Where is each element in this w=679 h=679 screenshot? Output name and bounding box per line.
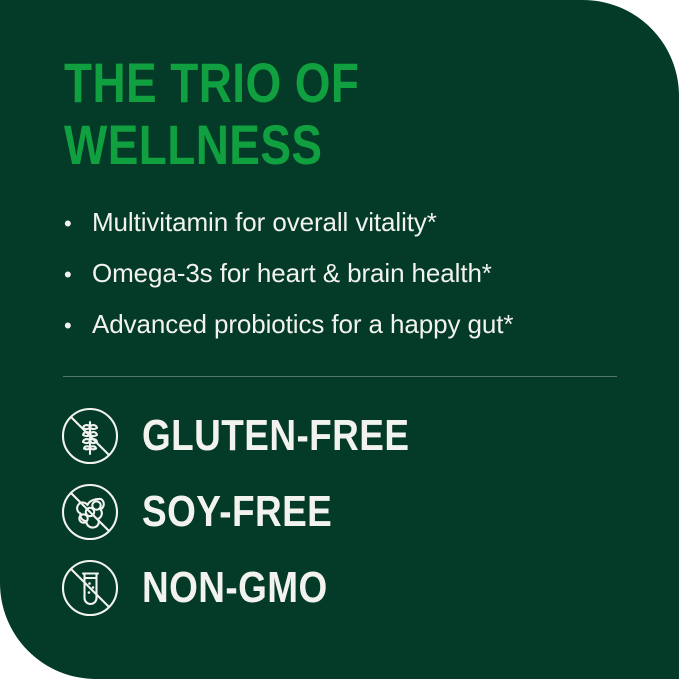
certification-badges: GLUTEN-FREE SOY-FREE [56,398,636,626]
badge-label: SOY-FREE [142,488,557,536]
no-test-tube-icon [56,554,124,622]
bullet-dot-icon: • [64,310,92,342]
bullet-dot-icon: • [64,208,92,240]
list-item: • Multivitamin for overall vitality* [64,206,644,257]
list-item-label: Omega-3s for heart & brain health* [92,257,644,289]
badge-label: NON-GMO [142,564,557,612]
page-title: THE TRIO OF WELLNESS [64,52,490,176]
no-soybean-icon [56,478,124,546]
list-item-label: Multivitamin for overall vitality* [92,206,644,238]
benefits-list: • Multivitamin for overall vitality* • O… [64,206,644,359]
badge-row-gluten-free: GLUTEN-FREE [56,398,636,474]
badge-label: GLUTEN-FREE [142,412,557,460]
no-wheat-icon [56,402,124,470]
list-item: • Omega-3s for heart & brain health* [64,257,644,308]
bullet-dot-icon: • [64,259,92,291]
badge-row-non-gmo: NON-GMO [56,550,636,626]
product-claims-card: THE TRIO OF WELLNESS • Multivitamin for … [0,0,679,679]
list-item: • Advanced probiotics for a happy gut* [64,308,644,359]
section-divider [63,376,617,377]
badge-row-soy-free: SOY-FREE [56,474,636,550]
list-item-label: Advanced probiotics for a happy gut* [92,308,644,340]
